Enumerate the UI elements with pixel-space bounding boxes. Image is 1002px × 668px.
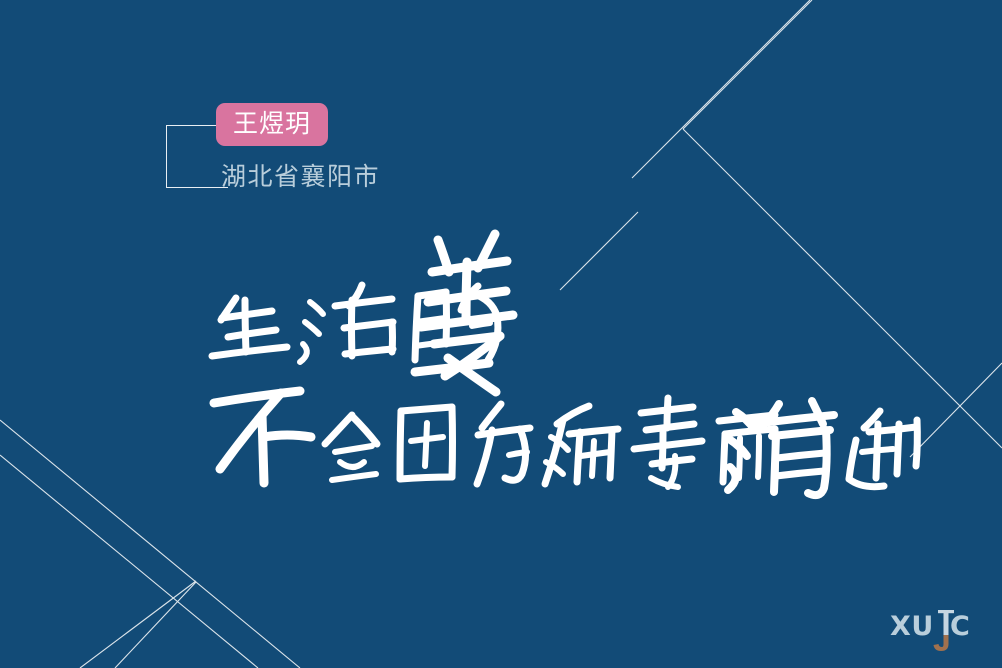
xujc-logo: XU C [888, 602, 984, 654]
glyph-shi [849, 411, 917, 487]
glyph-de [415, 286, 498, 360]
decor-line-right-x [910, 363, 1002, 457]
glyph-yin [400, 407, 453, 479]
decorative-lines [0, 0, 1002, 668]
decor-line-tr-5 [560, 212, 638, 290]
glyph-du [634, 398, 702, 487]
glyph-bu [214, 391, 311, 483]
poster-canvas: 王煜玥 湖北省襄阳市 [0, 0, 1002, 668]
glyph-hui [325, 415, 377, 480]
decor-line-bl-2 [0, 455, 258, 668]
decor-line-bl-3 [80, 581, 196, 668]
glyph-bing [545, 406, 618, 484]
logo-text-xu: XU [890, 611, 934, 642]
glyph-wei [477, 404, 530, 484]
glyph-mei [415, 234, 513, 392]
decor-line-tr-3 [683, 0, 812, 129]
decor-line-bl-5 [115, 582, 196, 668]
headline-calligraphy [0, 0, 1002, 668]
glyph-sheng [212, 298, 287, 356]
author-block: 王煜玥 湖北省襄阳市 [166, 103, 486, 208]
decor-line-bl-1 [0, 420, 300, 668]
author-name-tag: 王煜玥 [216, 103, 328, 146]
glyph-er [719, 415, 776, 482]
decor-line-tr-4 [683, 129, 1002, 448]
author-location: 湖北省襄阳市 [221, 163, 380, 191]
logo-text-c: C [950, 611, 970, 642]
decor-line-tr-1 [632, 0, 810, 178]
glyph-huo [300, 285, 393, 362]
glyph-xiao [728, 401, 834, 495]
